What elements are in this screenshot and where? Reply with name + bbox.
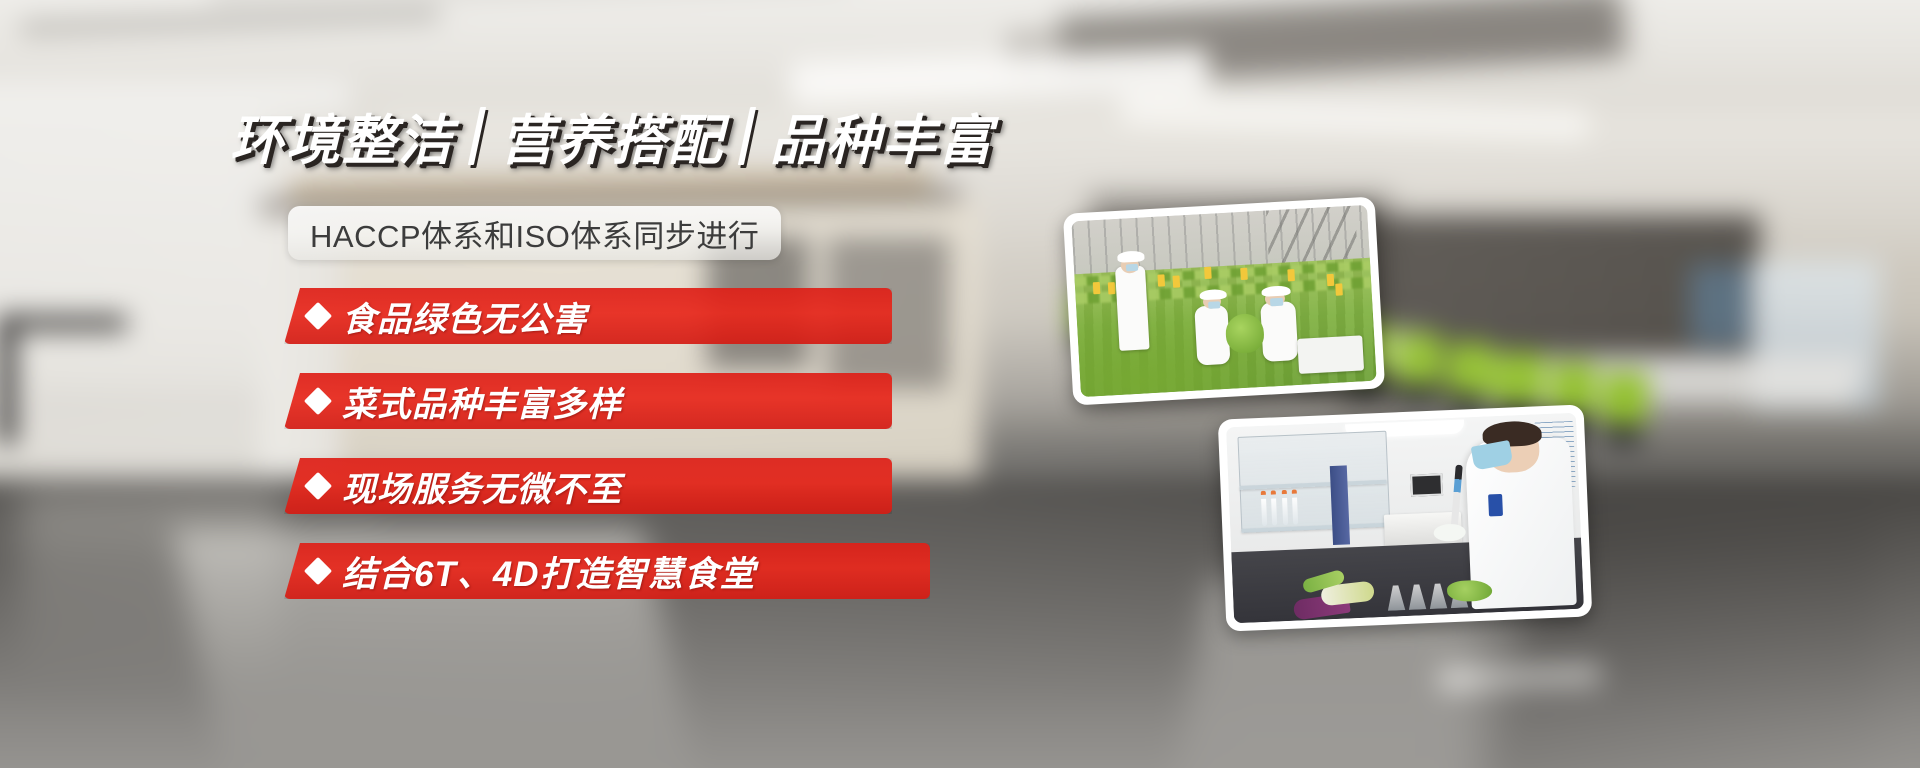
feature-label-4: 结合6T、4D打造智慧食堂 — [342, 546, 756, 597]
diamond-bullet-icon — [304, 302, 332, 330]
banner-headline: 环境整洁 营养搭配 品种丰富 — [228, 96, 996, 175]
subtitle-badge: HACCP体系和ISO体系同步进行 — [288, 206, 781, 260]
headline-segment-3: 品种丰富 — [768, 96, 996, 175]
feature-list: 食品绿色无公害 菜式品种丰富多样 现场服务无微不至 结合6T、4D打造智慧食堂 — [284, 288, 930, 628]
promotional-banner: 环境整洁 营养搭配 品种丰富 HACCP体系和ISO体系同步进行 食品绿色无公害… — [0, 0, 1920, 768]
headline-separator-icon — [738, 107, 756, 165]
headline-segment-2: 营养搭配 — [498, 96, 726, 175]
feature-item-2: 菜式品种丰富多样 — [284, 373, 892, 429]
diamond-bullet-icon — [304, 557, 332, 585]
subtitle-text: HACCP体系和ISO体系同步进行 — [310, 211, 759, 256]
feature-label-1: 食品绿色无公害 — [342, 292, 587, 341]
greenhouse-inspection-photo — [1063, 196, 1385, 405]
diamond-bullet-icon — [304, 472, 332, 500]
feature-item-3: 现场服务无微不至 — [284, 458, 892, 514]
headline-segment-1: 环境整洁 — [228, 96, 456, 175]
feature-label-2: 菜式品种丰富多样 — [342, 377, 622, 426]
feature-item-1: 食品绿色无公害 — [284, 288, 892, 344]
feature-item-4: 结合6T、4D打造智慧食堂 — [284, 543, 930, 599]
feature-label-3: 现场服务无微不至 — [342, 462, 622, 511]
diamond-bullet-icon — [304, 387, 332, 415]
headline-separator-icon — [468, 107, 486, 165]
laboratory-testing-photo — [1218, 404, 1593, 631]
